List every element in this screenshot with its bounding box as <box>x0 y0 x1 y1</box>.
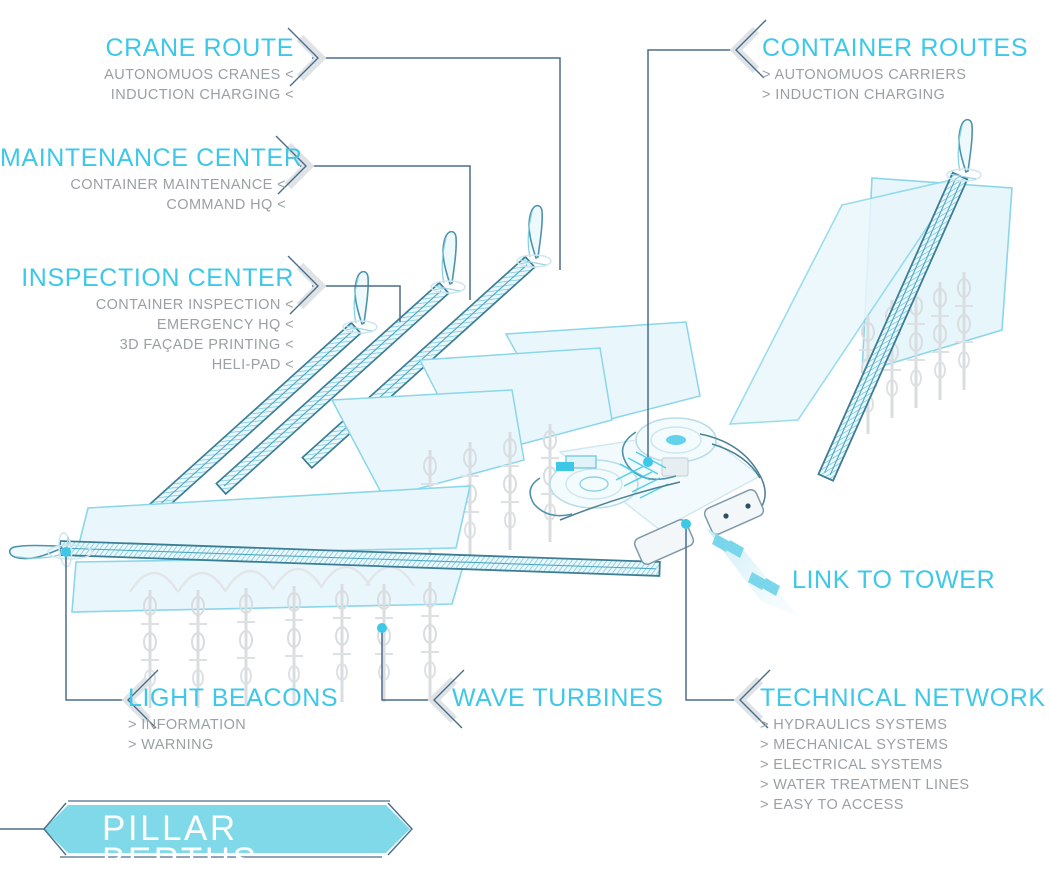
list-item: COMMAND HQ < <box>0 196 286 216</box>
list-item: > HYDRAULICS SYSTEMS <box>760 716 1046 736</box>
label-crane-route[interactable]: CRANE ROUTE AUTONOMUOS CRANES < INDUCTIO… <box>0 36 294 106</box>
list-item: > WARNING <box>128 736 338 756</box>
inspection-center-title: INSPECTION CENTER <box>0 266 294 291</box>
label-wave-turbines[interactable]: WAVE TURBINES <box>452 686 664 711</box>
list-item: EMERGENCY HQ < <box>0 316 294 336</box>
list-item: HELI-PAD < <box>0 356 294 376</box>
label-technical-network[interactable]: TECHNICAL NETWORK > HYDRAULICS SYSTEMS >… <box>760 686 1046 816</box>
crane-route-title: CRANE ROUTE <box>0 36 294 61</box>
crane-route-items: AUTONOMUOS CRANES < INDUCTION CHARGING < <box>0 66 294 106</box>
list-item: > INFORMATION <box>128 716 338 736</box>
container-routes-title: CONTAINER ROUTES <box>762 36 1028 61</box>
label-light-beacons[interactable]: LIGHT BEACONS > INFORMATION > WARNING <box>128 686 338 756</box>
link-to-tower-beam <box>706 528 800 618</box>
list-item: > AUTONOMUOS CARRIERS <box>762 66 1028 86</box>
label-container-routes[interactable]: CONTAINER ROUTES > AUTONOMUOS CARRIERS >… <box>762 36 1028 106</box>
list-item: CONTAINER INSPECTION < <box>0 296 294 316</box>
light-beacons-title: LIGHT BEACONS <box>128 686 338 711</box>
list-item: CONTAINER MAINTENANCE < <box>0 176 286 196</box>
list-item: AUTONOMUOS CRANES < <box>0 66 294 86</box>
page-title: PILLAR BERTHS <box>102 813 258 877</box>
diagram-canvas: CRANE ROUTE AUTONOMUOS CRANES < INDUCTIO… <box>0 0 1050 887</box>
list-item: > WATER TREATMENT LINES <box>760 776 1046 796</box>
list-item: > MECHANICAL SYSTEMS <box>760 736 1046 756</box>
pier-arm-northeast <box>730 120 1012 481</box>
inspection-center-items: CONTAINER INSPECTION < EMERGENCY HQ < 3D… <box>0 296 294 376</box>
container-routes-items: > AUTONOMUOS CARRIERS > INDUCTION CHARGI… <box>762 66 1028 106</box>
label-inspection-center[interactable]: INSPECTION CENTER CONTAINER INSPECTION <… <box>0 266 294 376</box>
maintenance-center-items: CONTAINER MAINTENANCE < COMMAND HQ < <box>0 176 286 216</box>
technical-network-items: > HYDRAULICS SYSTEMS > MECHANICAL SYSTEM… <box>760 716 1046 816</box>
list-item: > EASY TO ACCESS <box>760 796 1046 816</box>
list-item: > ELECTRICAL SYSTEMS <box>760 756 1046 776</box>
light-beacons-items: > INFORMATION > WARNING <box>128 716 338 756</box>
label-maintenance-center[interactable]: MAINTENANCE CENTER CONTAINER MAINTENANCE… <box>0 146 286 216</box>
label-link-to-tower[interactable]: LINK TO TOWER <box>792 566 995 595</box>
maintenance-center-title: MAINTENANCE CENTER <box>0 146 286 171</box>
list-item: > INDUCTION CHARGING <box>762 86 1028 106</box>
wave-turbines-title: WAVE TURBINES <box>452 686 664 711</box>
list-item: INDUCTION CHARGING < <box>0 86 294 106</box>
list-item: 3D FAÇADE PRINTING < <box>0 336 294 356</box>
technical-network-title: TECHNICAL NETWORK <box>760 686 1046 711</box>
